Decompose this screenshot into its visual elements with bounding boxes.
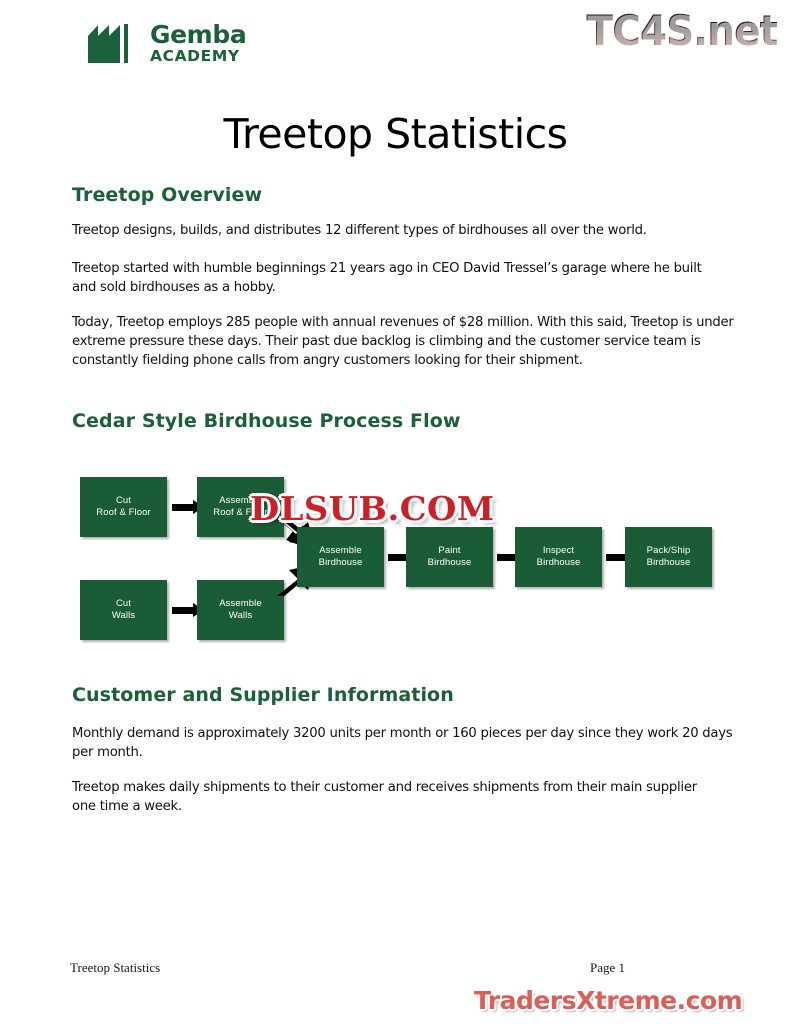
flow-node-label: Assemble Birdhouse [319, 545, 363, 569]
watermark-tradersxtreme: TradersXtreme.com [474, 986, 742, 1015]
flow-node-label: Pack/Ship Birdhouse [647, 545, 691, 569]
footer-document-name: Treetop Statistics [70, 960, 160, 976]
section-heading-customer-supplier: Customer and Supplier Information [72, 684, 454, 706]
section-heading-process-flow: Cedar Style Birdhouse Process Flow [72, 410, 461, 432]
factory-sawtooth-icon [86, 22, 142, 64]
flow-node-assemble-birdhouse[interactable]: Assemble Birdhouse [297, 527, 384, 587]
overview-paragraph-2: Treetop started with humble beginnings 2… [72, 259, 718, 297]
logo-academy-text: ACADEMY [150, 49, 246, 65]
logo-gemba-text: Gemba [150, 22, 246, 47]
watermark-dlsub: DLSUB.COM [250, 489, 495, 528]
flow-node-cut-walls[interactable]: Cut Walls [80, 580, 167, 640]
section-heading-overview: Treetop Overview [72, 184, 262, 206]
overview-paragraph-1: Treetop designs, builds, and distributes… [72, 221, 732, 240]
document-page: Gemba ACADEMY TC4S.net Treetop Statistic… [0, 0, 791, 1024]
footer-page-number: Page 1 [590, 960, 625, 976]
flow-node-assemble-walls[interactable]: Assemble Walls [197, 580, 284, 640]
flow-node-inspect-birdhouse[interactable]: Inspect Birdhouse [515, 527, 602, 587]
customer-paragraph-2: Treetop makes daily shipments to their c… [72, 778, 722, 816]
flow-node-cut-roof-floor[interactable]: Cut Roof & Floor [80, 477, 167, 537]
gemba-academy-logo: Gemba ACADEMY [86, 22, 246, 65]
page-title: Treetop Statistics [0, 110, 791, 158]
flow-node-label: Cut Roof & Floor [96, 495, 151, 519]
flow-node-pack-ship-birdhouse[interactable]: Pack/Ship Birdhouse [625, 527, 712, 587]
flow-node-label: Paint Birdhouse [428, 545, 472, 569]
flow-node-label: Cut Walls [112, 598, 135, 622]
logo-wordmark: Gemba ACADEMY [150, 22, 246, 65]
customer-paragraph-1: Monthly demand is approximately 3200 uni… [72, 724, 734, 762]
flow-node-label: Inspect Birdhouse [537, 545, 581, 569]
overview-paragraph-3: Today, Treetop employs 285 people with a… [72, 313, 740, 370]
watermark-tc4s: TC4S.net [586, 6, 777, 55]
flow-node-label: Assemble Walls [219, 598, 262, 622]
flow-node-paint-birdhouse[interactable]: Paint Birdhouse [406, 527, 493, 587]
